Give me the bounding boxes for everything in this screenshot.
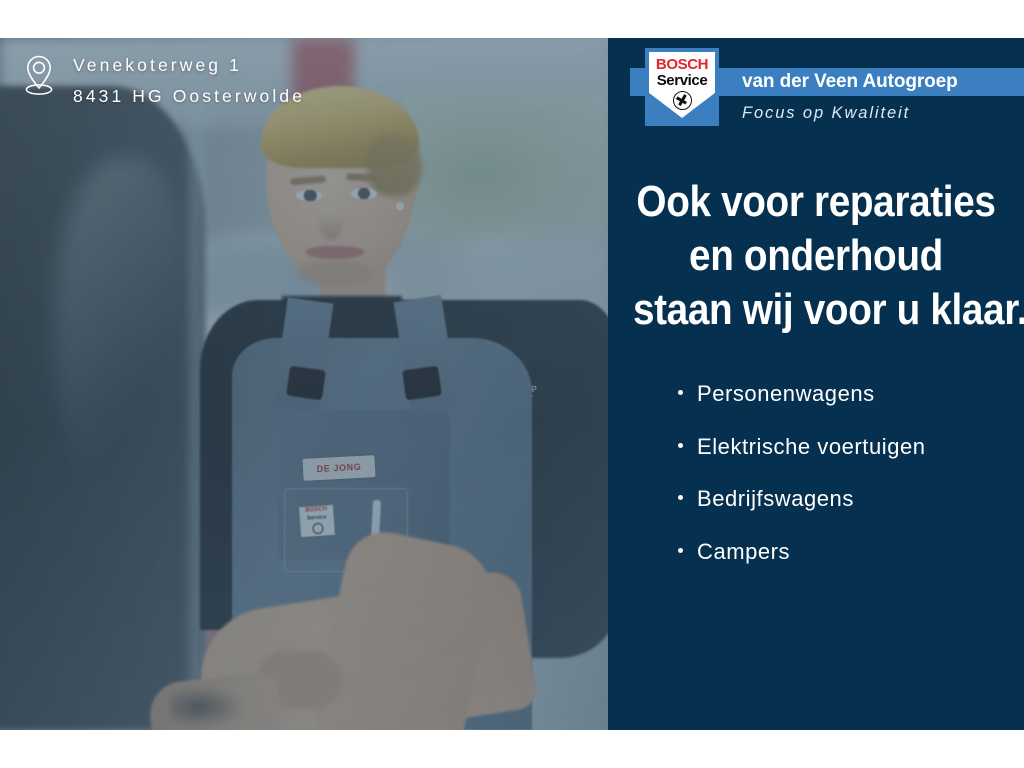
workshop-photo: VDVEENAUTOGROEP FOCUS OP KWALITEIT DE JO… xyxy=(0,38,608,730)
bosch-armature-icon xyxy=(673,91,692,110)
bullet-icon xyxy=(678,443,683,448)
services-list: Personenwagens Elektrische voertuigen Be… xyxy=(678,381,926,591)
list-item: Personenwagens xyxy=(678,381,926,407)
photo-haze-layer xyxy=(0,38,608,730)
address-street: Venekoterweg 1 xyxy=(73,50,305,81)
company-name: van der Veen Autogroep xyxy=(742,71,958,93)
address-text: Venekoterweg 1 8431 HG Oosterwolde xyxy=(73,50,305,112)
headline-line-2: en onderhoud xyxy=(633,229,999,283)
headline-line-3: staan wij voor u klaar.. xyxy=(633,283,999,337)
bullet-icon xyxy=(678,495,683,500)
bullet-icon xyxy=(678,390,683,395)
info-panel: van der Veen Autogroep BOSCH Service Foc… xyxy=(608,38,1024,730)
bullet-icon xyxy=(678,548,683,553)
list-item: Campers xyxy=(678,539,926,565)
service-label: Bedrijfswagens xyxy=(697,486,854,512)
brand-tagline: Focus op Kwaliteit xyxy=(742,104,910,123)
address-city: 8431 HG Oosterwolde xyxy=(73,81,305,112)
headline: Ook voor reparaties en onderhoud staan w… xyxy=(633,175,999,337)
advertisement-banner: VDVEENAUTOGROEP FOCUS OP KWALITEIT DE JO… xyxy=(0,38,1024,730)
service-label: Elektrische voertuigen xyxy=(697,434,926,460)
bosch-service-word: Service xyxy=(657,73,708,89)
address-overlay: Venekoterweg 1 8431 HG Oosterwolde xyxy=(22,50,305,112)
service-label: Campers xyxy=(697,539,790,565)
bosch-shield: BOSCH Service xyxy=(649,52,715,118)
list-item: Elektrische voertuigen xyxy=(678,434,926,460)
map-pin-icon xyxy=(22,54,56,98)
list-item: Bedrijfswagens xyxy=(678,486,926,512)
headline-line-1: Ook voor reparaties xyxy=(633,175,999,229)
bosch-wordmark: BOSCH xyxy=(656,57,708,73)
bosch-service-logo: BOSCH Service xyxy=(645,48,719,126)
service-label: Personenwagens xyxy=(697,381,875,407)
